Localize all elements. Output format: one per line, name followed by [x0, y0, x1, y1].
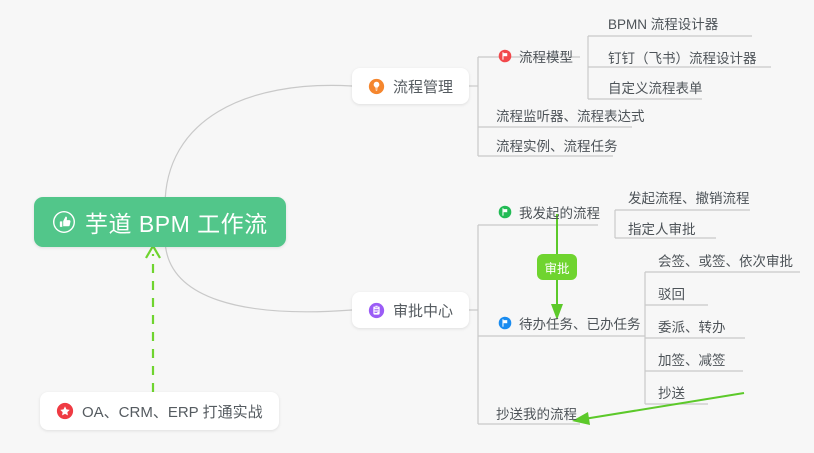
leaf-label-reject: 驳回 — [658, 283, 685, 303]
thumbs-up-icon — [52, 210, 76, 234]
root-node[interactable]: 芋道 BPM 工作流 — [34, 197, 286, 247]
leaf-label-instance: 流程实例、流程任务 — [496, 135, 618, 155]
branch-node-process-management[interactable]: 流程管理 — [352, 68, 469, 104]
leaf-node-dingtalk-designer[interactable]: 钉钉（飞书）流程设计器 — [600, 42, 767, 72]
branch-label-approval-center: 审批中心 — [393, 300, 453, 321]
approval-tag-label: 审批 — [545, 258, 570, 277]
footnote-arrowhead — [146, 246, 160, 258]
star-icon — [56, 402, 74, 420]
leaf-node-listener[interactable]: 流程监听器、流程表达式 — [488, 100, 655, 130]
leaf-label-my-started: 我发起的流程 — [519, 202, 600, 222]
leaf-label-todo-done: 待办任务、已办任务 — [519, 313, 641, 333]
leaf-node-cc-to-me[interactable]: 抄送我的流程 — [488, 398, 587, 428]
leaf-node-delegate[interactable]: 委派、转办 — [650, 311, 736, 341]
mindmap-canvas: 芋道 BPM 工作流 流程管理 流程模型 BPMN 流程设计器 钉钉（飞书）流程 — [0, 0, 814, 453]
leaf-label-bpmn-designer: BPMN 流程设计器 — [608, 13, 718, 33]
leaf-node-assignee-approval[interactable]: 指定人审批 — [620, 213, 706, 243]
leaf-node-todo-done[interactable]: 待办任务、已办任务 — [490, 308, 651, 338]
leaf-label-cc-to-me: 抄送我的流程 — [496, 403, 577, 423]
leaf-label-add-remove-sign: 加签、减签 — [658, 349, 726, 369]
leaf-node-instance[interactable]: 流程实例、流程任务 — [488, 130, 628, 160]
leaf-label-custom-form: 自定义流程表单 — [608, 77, 703, 97]
root-label: 芋道 BPM 工作流 — [85, 205, 268, 239]
leaf-node-process-model[interactable]: 流程模型 — [490, 41, 583, 71]
leaf-node-my-started[interactable]: 我发起的流程 — [490, 197, 610, 227]
link-root-to-approval-center — [165, 238, 352, 312]
leaf-node-custom-form[interactable]: 自定义流程表单 — [600, 72, 713, 102]
flag-icon — [498, 49, 512, 63]
footnote-node[interactable]: OA、CRM、ERP 打通实战 — [40, 392, 279, 430]
leaf-label-countersign: 会签、或签、依次审批 — [658, 250, 793, 270]
leaf-label-listener: 流程监听器、流程表达式 — [496, 105, 645, 125]
leaf-node-start-cancel[interactable]: 发起流程、撤销流程 — [620, 182, 760, 212]
flag-icon — [498, 316, 512, 330]
leaf-node-countersign[interactable]: 会签、或签、依次审批 — [650, 245, 803, 275]
leaf-node-add-remove-sign[interactable]: 加签、减签 — [650, 344, 736, 374]
leaf-label-delegate: 委派、转办 — [658, 316, 726, 336]
clipboard-icon — [368, 302, 385, 319]
leaf-label-process-model: 流程模型 — [519, 46, 573, 66]
link-root-to-process-management — [165, 85, 352, 206]
leaf-label-assignee-approval: 指定人审批 — [628, 218, 696, 238]
leaf-label-dingtalk-designer: 钉钉（飞书）流程设计器 — [608, 47, 757, 67]
leaf-node-bpmn-designer[interactable]: BPMN 流程设计器 — [600, 8, 728, 38]
leaf-node-reject[interactable]: 驳回 — [650, 278, 695, 308]
branch-label-process-management: 流程管理 — [393, 76, 453, 97]
branch-node-approval-center[interactable]: 审批中心 — [352, 292, 469, 328]
leaf-node-cc[interactable]: 抄送 — [650, 377, 695, 407]
leaf-label-start-cancel: 发起流程、撤销流程 — [628, 187, 750, 207]
leaf-label-cc: 抄送 — [658, 382, 685, 402]
lightbulb-icon — [368, 78, 385, 95]
approval-tag[interactable]: 审批 — [537, 254, 577, 280]
flag-icon — [498, 205, 512, 219]
footnote-label: OA、CRM、ERP 打通实战 — [82, 401, 263, 422]
